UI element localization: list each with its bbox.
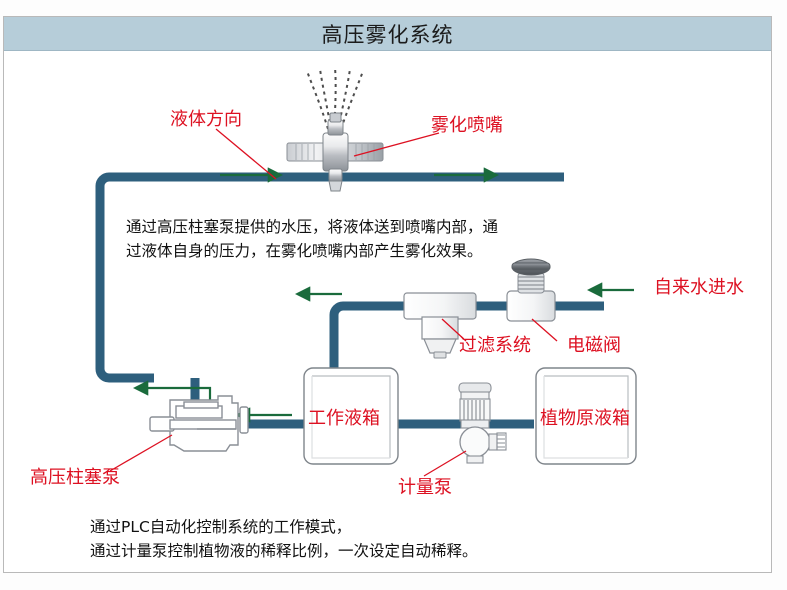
page-title: 高压雾化系统 [322,19,454,49]
label-working-tank: 工作液箱 [308,404,380,430]
description-top-line2: 过液体自身的压力，在雾化喷嘴内部产生雾化效果。 [126,239,483,263]
leader-valve [532,319,557,341]
label-plant-stock-tank: 植物原液箱 [540,404,630,430]
label-atomizing-nozzle: 雾化喷嘴 [431,117,503,135]
description-bottom-line1: 通过PLC自动化控制系统的工作模式， [90,515,351,539]
slide-frame: 高压雾化系统 [3,16,772,573]
label-solenoid-valve: 电磁阀 [567,337,621,355]
title-bar: 高压雾化系统 [4,17,771,51]
plunger-pump-icon [150,396,248,451]
label-filter-system: 过滤系统 [459,337,531,355]
diagram-page: 高压雾化系统 [0,0,787,590]
diagram-canvas: 液体方向 雾化喷嘴 自来水进水 过滤系统 电磁阀 高压柱塞泵 计量泵 工作液箱 … [4,51,771,573]
diagram-graphics [4,51,771,573]
leader-flow-direction [216,129,276,179]
label-metering-pump: 计量泵 [398,479,452,497]
label-high-pressure-plunger-pump: 高压柱塞泵 [30,469,120,487]
description-top-line1: 通过高压柱塞泵提供的水压，将液体送到喷嘴内部，通 [126,215,498,239]
description-bottom-line2: 通过计量泵控制植物液的稀释比例，一次设定自动稀释。 [90,539,478,563]
leader-metering-pump [424,451,466,476]
label-tap-water-inlet: 自来水进水 [654,279,744,297]
solenoid-valve-icon [507,259,555,321]
label-flow-direction: 液体方向 [170,111,242,129]
leader-plunger-pump [110,435,172,471]
